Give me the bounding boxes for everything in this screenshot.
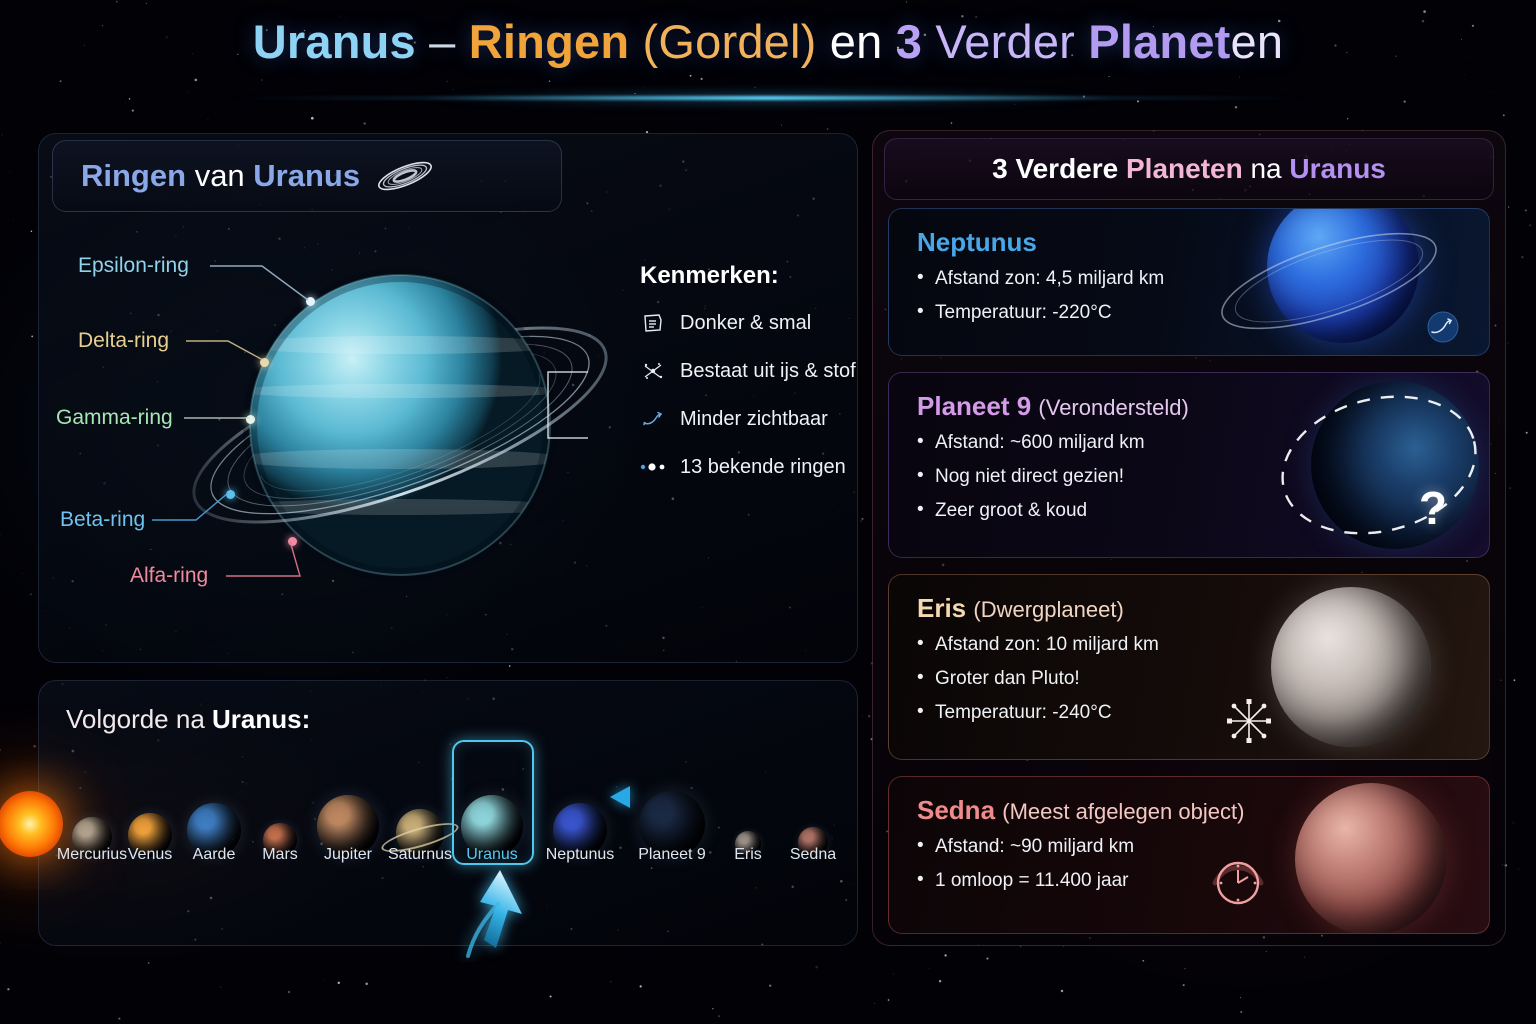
kenmerken-label: Minder zichtbaar (680, 408, 828, 431)
rings-header-van: van (195, 158, 245, 193)
right-header-a: 3 Verdere (992, 153, 1126, 184)
planeet9-bullets: Afstand: ~600 miljard km Nog niet direct… (917, 432, 1189, 522)
snowflake-icon (1221, 693, 1277, 749)
title-uranus: Uranus (253, 15, 416, 68)
leader-dot-delta (260, 358, 269, 367)
document-icon (640, 310, 666, 336)
label-epsilon-ring: Epsilon-ring (78, 254, 189, 278)
label-gamma-ring: Gamma-ring (56, 406, 173, 430)
kenmerken-label: Donker & smal (680, 312, 811, 335)
leader-dot-alfa (288, 537, 297, 546)
planet9-dashed-orbit (1229, 373, 1489, 558)
kenmerken-list: Kenmerken: Donker & smal (640, 262, 870, 502)
infographic-root: Uranus – Ringen (Gordel) en 3 Verder Pla… (0, 0, 1536, 1024)
eris-content: Eris (Dwergplaneet) Afstand zon: 10 milj… (917, 593, 1159, 736)
bullet: Zeer groot & koud (917, 500, 1189, 522)
right-header-d: Uranus (1289, 153, 1385, 184)
up-arrow-icon (440, 862, 560, 962)
title-en: en (830, 15, 883, 68)
kenmerken-item-ijs-stof: Bestaat uit ijs & stof (640, 358, 870, 384)
rings-panel-header: Ringen van Uranus (52, 140, 562, 212)
title-gordel: (Gordel) (643, 15, 817, 68)
sequence-title-a: Volgorde na (66, 704, 212, 734)
bullet: Temperatuur: -240°C (917, 702, 1159, 724)
card-subtitle: (Verondersteld) (1038, 395, 1188, 420)
question-mark-icon: ? (1419, 481, 1447, 535)
leader-dot-gamma (246, 415, 255, 424)
page-title: Uranus – Ringen (Gordel) en 3 Verder Pla… (0, 14, 1536, 69)
label-alfa-ring: Alfa-ring (130, 564, 208, 588)
neptunus-content: Neptunus Afstand zon: 4,5 miljard km Tem… (917, 227, 1164, 336)
card-title: Eris (Dwergplaneet) (917, 593, 1159, 624)
title-en-suffix: en (1231, 15, 1284, 68)
sequence-pointer-arrow (610, 786, 630, 808)
card-subtitle: (Meest afgelegen object) (1002, 799, 1244, 824)
eris-bullets: Afstand zon: 10 miljard km Groter dan Pl… (917, 634, 1159, 724)
leader-dot-epsilon (306, 297, 315, 306)
kenmerken-label: 13 bekende ringen (680, 456, 846, 479)
bullet: Groter dan Pluto! (917, 668, 1159, 690)
bullet: Nog niet direct gezien! (917, 466, 1189, 488)
sequence-label-sedna: Sedna (753, 846, 873, 864)
neptunus-bullets: Afstand zon: 4,5 miljard km Temperatuur:… (917, 268, 1164, 324)
bullet: Afstand zon: 4,5 miljard km (917, 268, 1164, 290)
sedna-content: Sedna (Meest afgelegen object) Afstand: … (917, 795, 1244, 904)
bullet: Temperatuur: -220°C (917, 302, 1164, 324)
kenmerken-item-donker-smal: Donker & smal (640, 310, 870, 336)
label-beta-ring: Beta-ring (60, 508, 145, 532)
leader-dot-beta (226, 490, 235, 499)
bullet: Afstand: ~600 miljard km (917, 432, 1189, 454)
planeet9-content: Planeet 9 (Verondersteld) Afstand: ~600 … (917, 391, 1189, 534)
kenmerken-label: Bestaat uit ijs & stof (680, 360, 856, 383)
snow-particles-icon (640, 358, 666, 384)
title-underline (228, 96, 1308, 100)
label-delta-ring: Delta-ring (78, 329, 169, 353)
sequence-title-b: Uranus: (212, 704, 310, 734)
title-three: 3 (896, 15, 922, 68)
card-subtitle: (Dwergplaneet) (973, 597, 1123, 622)
card-title-main: Eris (917, 593, 966, 623)
uranus-ring-system (150, 215, 630, 635)
right-header-b: Planeten (1126, 153, 1243, 184)
eris-grey-planet (1271, 587, 1431, 747)
card-eris[interactable]: Eris (Dwergplaneet) Afstand zon: 10 milj… (888, 574, 1490, 760)
card-planeet-9[interactable]: ? Planeet 9 (Verondersteld) Afstand: ~60… (888, 372, 1490, 558)
card-title-main: Planeet 9 (917, 391, 1031, 421)
kenmerken-title: Kenmerken: (640, 262, 870, 290)
title-planet: Planet (1088, 15, 1230, 68)
sedna-red-planet (1295, 783, 1447, 934)
kenmerken-item-13-ringen: 13 bekende ringen (640, 454, 870, 480)
three-dots-icon (640, 454, 666, 480)
card-title-main: Sedna (917, 795, 995, 825)
card-neptunus[interactable]: Neptunus Afstand zon: 4,5 miljard km Tem… (888, 208, 1490, 356)
card-sedna[interactable]: Sedna (Meest afgelegen object) Afstand: … (888, 776, 1490, 934)
wind-icon (640, 406, 666, 432)
title-verder: Verder (935, 15, 1075, 68)
bullet: Afstand: ~90 miljard km (917, 836, 1244, 858)
sequence-title: Volgorde na Uranus: (66, 704, 310, 735)
title-dash: – (429, 15, 455, 68)
wind-badge-icon (1421, 305, 1465, 349)
title-ringen: Ringen (469, 15, 629, 68)
bullet: Afstand zon: 10 miljard km (917, 634, 1159, 656)
neptune-ring-arc (1199, 208, 1459, 356)
saturn-rings-icon (374, 156, 436, 196)
right-header-c: na (1243, 153, 1290, 184)
card-title: Neptunus (917, 227, 1164, 258)
bullet: 1 omloop = 11.400 jaar (917, 870, 1244, 892)
kenmerken-item-minder-zichtbaar: Minder zichtbaar (640, 406, 870, 432)
rings-header-uranus: Uranus (253, 158, 360, 193)
uranus-illustration (150, 215, 630, 635)
card-title: Planeet 9 (Verondersteld) (917, 391, 1189, 422)
rings-header-ringen: Ringen (81, 158, 186, 193)
card-title: Sedna (Meest afgelegen object) (917, 795, 1244, 826)
further-planets-header: 3 Verdere Planeten na Uranus (884, 138, 1494, 200)
sedna-bullets: Afstand: ~90 miljard km 1 omloop = 11.40… (917, 836, 1244, 892)
